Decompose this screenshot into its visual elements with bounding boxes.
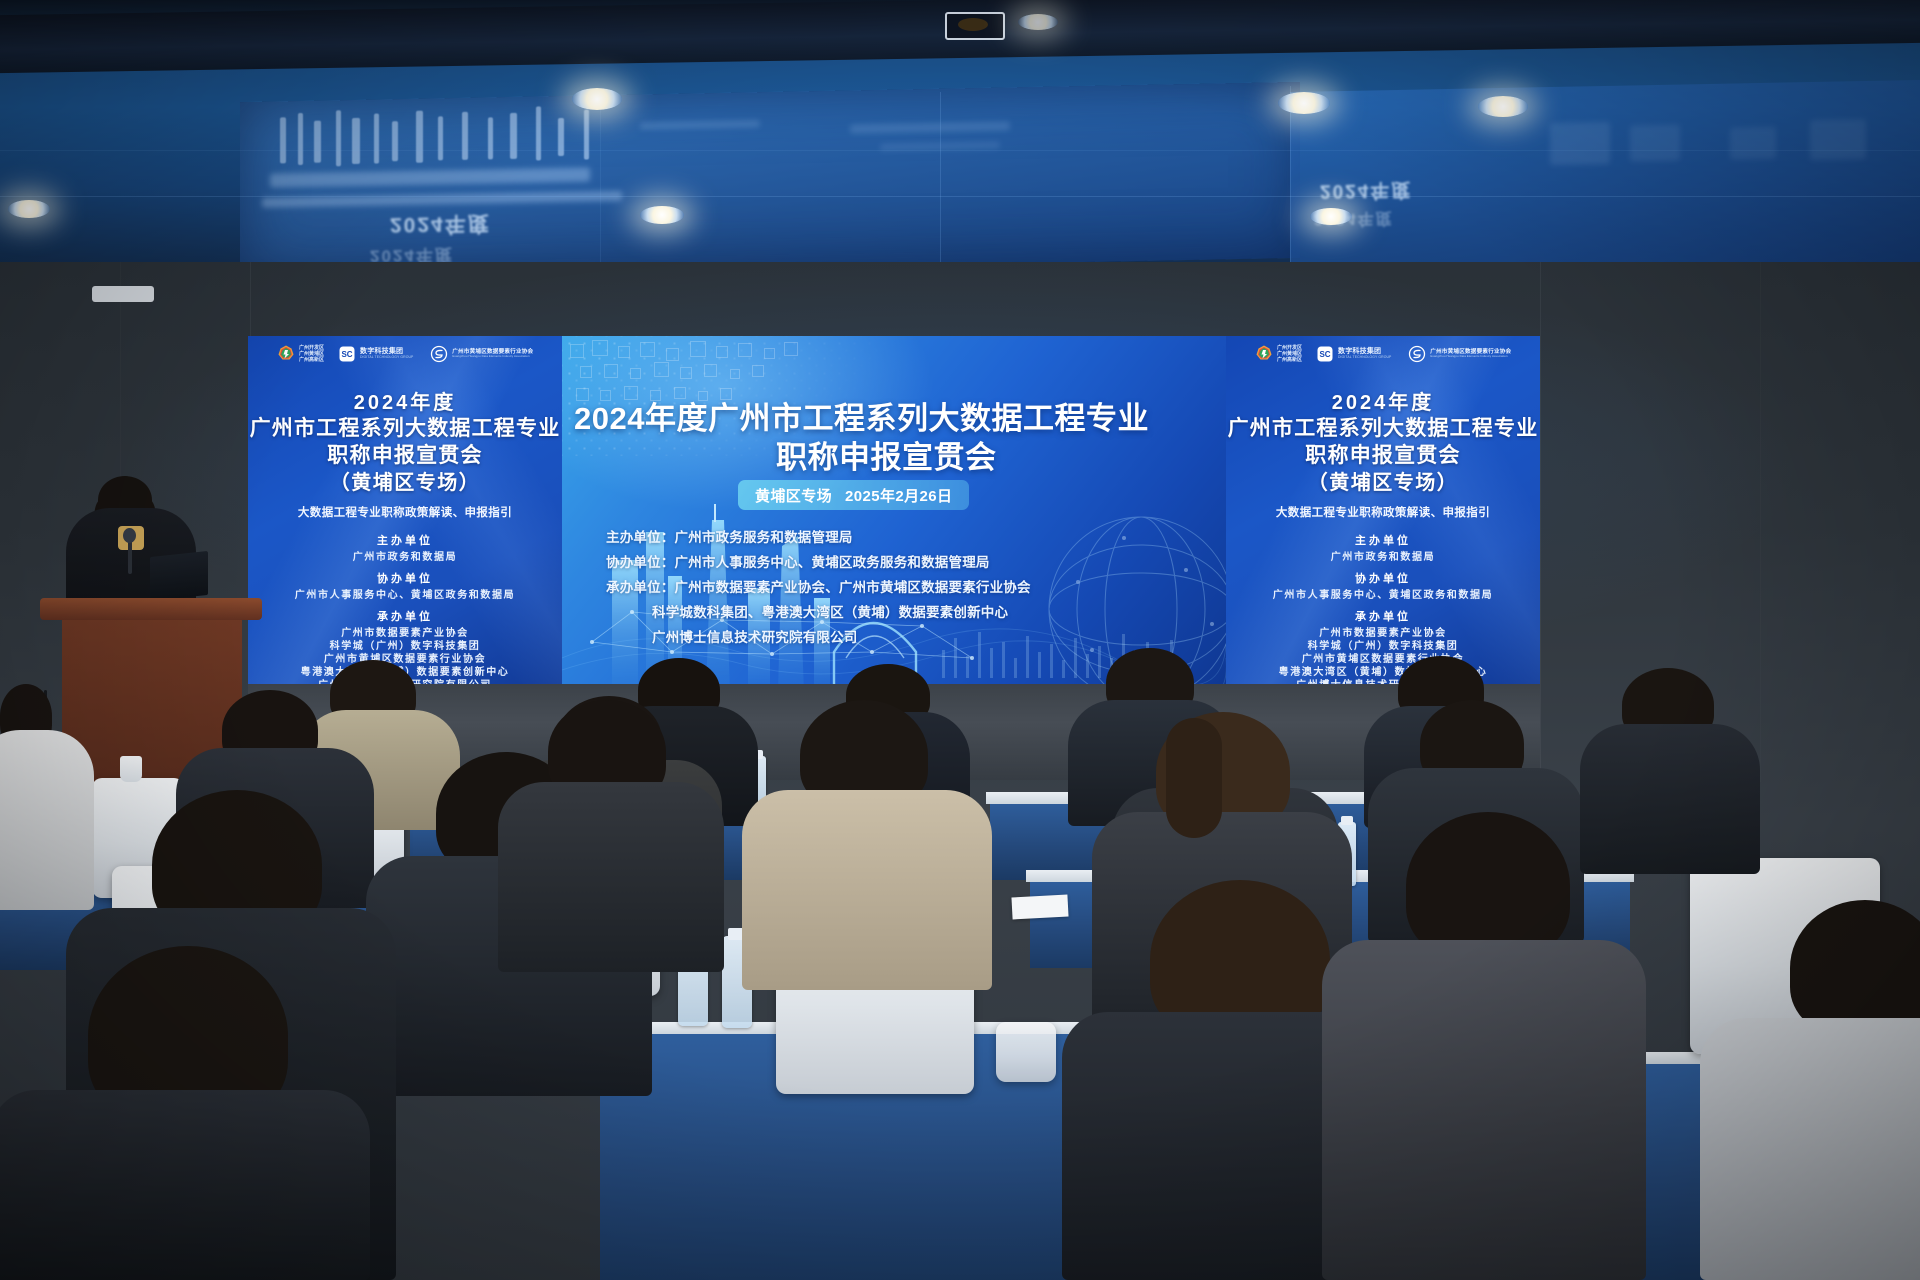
sci-group-icon-right: SC: [1315, 344, 1335, 364]
paper-cup-1[interactable]: [120, 756, 142, 782]
panel-right-title-2: 广州市工程系列大数据工程专业: [1226, 412, 1540, 442]
ceiling-mirror-panel-right: 2024年度 2024年度: [1290, 80, 1920, 268]
huangpu-district-icon: [276, 344, 296, 364]
ceiling-mirror-panel-left: 2024年度 2024年度: [240, 82, 1300, 268]
panel-left-subtitle: 大数据工程专业职称政策解读、申报指引: [248, 504, 562, 520]
panel-right-logo-row: 广州开发区 广州黄埔区 广州高新区 SC 数字科技集团 DIGITAL TECH…: [1226, 344, 1540, 364]
svg-text:SC: SC: [341, 350, 352, 359]
panel-left-block-2-heading: 承办单位: [248, 608, 562, 624]
panel-left-block-0-line-0: 广州市政务和数据局: [248, 548, 562, 563]
downlight-7: [1018, 14, 1058, 30]
data-association-icon-right: [1407, 344, 1427, 364]
ceiling-reflection-text: 2024年度: [390, 209, 491, 241]
led-video-wall: 广州开发区 广州黄埔区 广州高新区 SC 数字科技集团 DIGITAL TECH…: [248, 336, 1540, 684]
huangpu-logo-text-right: 广州开发区 广州黄埔区 广州高新区: [1277, 345, 1302, 363]
center-organizer-line-3: 科学城数科集团、粤港澳大湾区（黄埔）数据要素创新中心: [652, 601, 1008, 621]
podium-top: [40, 598, 262, 620]
led-panel-right: 广州开发区 广州黄埔区 广州高新区 SC 数字科技集团 DIGITAL TECH…: [1226, 336, 1540, 684]
panel-left-title-1: 2024年度: [248, 386, 562, 415]
ceiling: 2024年度 2024年度 2024年度 2024年度: [0, 0, 1920, 268]
panel-left-block-0-heading: 主办单位: [248, 532, 562, 548]
panel-left-title-4: （黄埔区专场）: [248, 466, 562, 495]
panel-left-block-1-heading: 协办单位: [248, 570, 562, 586]
bottle-cap-6: [1341, 816, 1353, 825]
center-organizer-line-1: 协办单位：广州市人事服务中心、黄埔区政务服务和数据管理局: [606, 551, 990, 571]
led-panel-left: 广州开发区 广州黄埔区 广州高新区 SC 数字科技集团 DIGITAL TECH…: [248, 336, 562, 684]
panel-right-title-3: 职称申报宣贯会: [1226, 439, 1540, 469]
huangpu-data-association-logo: 广州市黄埔区数据要素行业协会 Guangzhou Huangpu Data El…: [429, 344, 534, 364]
panel-left-title-2: 广州市工程系列大数据工程专业: [248, 412, 562, 442]
sci-group-logo-text-right: 数字科技集团 DIGITAL TECHNOLOGY GROUP: [1338, 348, 1394, 359]
panel-right-subtitle: 大数据工程专业职称政策解读、申报指引: [1226, 504, 1540, 520]
center-organizer-line-0: 主办单位：广州市政务服务和数据管理局: [606, 526, 853, 546]
panel-left-block-1-line-0: 广州市人事服务中心、黄埔区政务和数据局: [248, 586, 562, 601]
badge-session-label: 黄埔区专场: [755, 485, 832, 506]
center-organizer-line-2: 承办单位：广州市数据要素产业协会、广州市黄埔区数据要素行业协会: [606, 576, 1031, 596]
sci-group-logo: SC 数字科技集团 DIGITAL TECHNOLOGY GROUP: [337, 344, 416, 364]
panel-right-title-1: 2024年度: [1226, 386, 1540, 415]
center-organizer-line-4: 广州博士信息技术研究院有限公司: [652, 626, 858, 646]
badge-date-label: 2025年2月26日: [845, 485, 952, 506]
downlight-4: [8, 200, 50, 218]
panel-left-logo-row: 广州开发区 广州黄埔区 广州高新区 SC 数字科技集团 DIGITAL TECH…: [248, 344, 562, 364]
downlight-1: [572, 88, 622, 110]
panel-right-block-1-line-0: 广州市人事服务中心、黄埔区政务和数据局: [1226, 586, 1540, 601]
led-panel-center: 2024年度广州市工程系列大数据工程专业 职称申报宣贯会 黄埔区专场 2025年…: [562, 336, 1226, 684]
huangpu-district-logo: 广州开发区 广州黄埔区 广州高新区: [276, 344, 324, 364]
center-title-line-2: 职称申报宣贯会: [776, 432, 997, 477]
panel-right-block-0-line-0: 广州市政务和数据局: [1226, 548, 1540, 563]
downlight-6: [1310, 208, 1352, 225]
panel-right-block-0-heading: 主办单位: [1226, 532, 1540, 548]
downlight-3: [1478, 96, 1528, 117]
panel-right-title-4: （黄埔区专场）: [1226, 466, 1540, 495]
panel-left-title-3: 职称申报宣贯会: [248, 439, 562, 469]
chair-10[interactable]: [996, 1022, 1056, 1082]
data-association-icon: [429, 344, 449, 364]
session-date-badge: 黄埔区专场 2025年2月26日: [738, 480, 969, 510]
wall-ac-vent: [92, 286, 154, 302]
microphone-head: [123, 528, 136, 543]
huangpu-data-association-logo-right: 广州市黄埔区数据要素行业协会 Guangzhou Huangpu Data El…: [1407, 344, 1512, 364]
svg-text:SC: SC: [1319, 350, 1330, 359]
huangpu-district-logo-right: 广州开发区 广州黄埔区 广州高新区: [1254, 344, 1302, 364]
podium-laptop: [150, 551, 208, 601]
huangpu-logo-text: 广州开发区 广州黄埔区 广州高新区: [299, 345, 324, 363]
handout-paper-1[interactable]: [1011, 895, 1068, 920]
sci-group-icon: SC: [337, 344, 357, 364]
downlight-2: [1278, 92, 1330, 114]
panel-right-block-2-line-4: 广州博士信息技术研究院有限公司: [1226, 676, 1540, 684]
assoc-logo-text-right: 广州市黄埔区数据要素行业协会 Guangzhou Huangpu Data El…: [1430, 350, 1512, 359]
panel-right-block-2-heading: 承办单位: [1226, 608, 1540, 624]
sci-group-logo-right: SC 数字科技集团 DIGITAL TECHNOLOGY GROUP: [1315, 344, 1394, 364]
conference-photo-scene: 2024年度 2024年度 2024年度 2024年度: [0, 0, 1920, 1280]
assoc-logo-text: 广州市黄埔区数据要素行业协会 Guangzhou Huangpu Data El…: [452, 350, 534, 359]
downlight-5: [640, 206, 684, 224]
panel-right-block-1-heading: 协办单位: [1226, 570, 1540, 586]
huangpu-district-icon-right: [1254, 344, 1274, 364]
sci-group-logo-text: 数字科技集团 DIGITAL TECHNOLOGY GROUP: [360, 348, 416, 359]
